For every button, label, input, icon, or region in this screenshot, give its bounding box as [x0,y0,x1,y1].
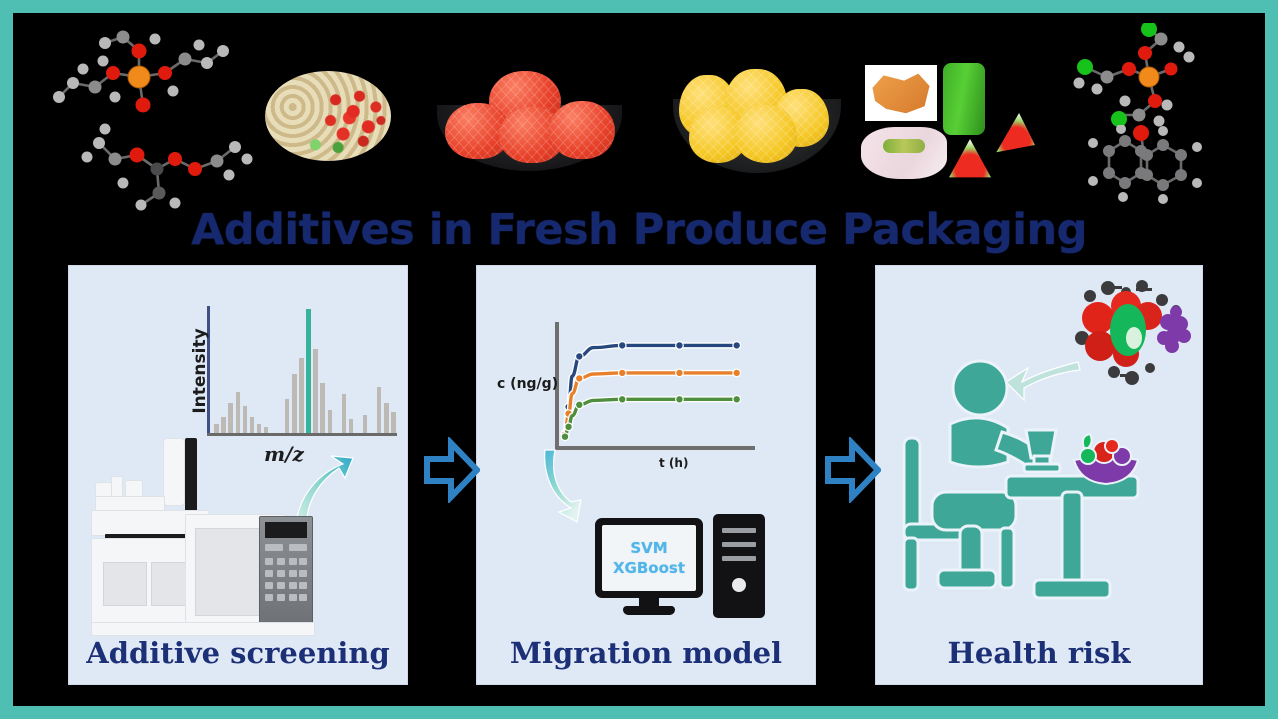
molecule-svg [71,121,256,211]
figure-title: Additives in Fresh Produce Packaging [13,205,1265,255]
panel-slot-a [103,562,147,606]
molecule-svg [1063,125,1223,211]
spectrum-bar [342,394,346,433]
person-eating-at-table-icon [898,352,1182,652]
data-point [576,353,584,361]
data-point [618,369,626,377]
lc-ms-instrument-icon [91,438,353,638]
migration-y-axis-label: c (ng/g) [497,376,558,392]
computer-tower [713,514,765,618]
apples-in-foam-net-tray-photo [437,63,622,171]
monitor-screen: SVM XGBoost [602,525,696,591]
graphical-abstract: Additives in Fresh Produce Packaging Int… [0,0,1278,719]
spectrum-bar [313,349,317,433]
spectrum-bar [228,403,232,433]
curve-halo [565,399,737,436]
data-point [676,396,684,404]
spectrum-bar [328,410,332,433]
person-svg [898,352,1182,652]
pears-in-foam-net-tray-photo [673,63,841,173]
green-container [943,63,985,135]
wrapped-salad [861,127,947,179]
power-button[interactable] [732,578,746,592]
spectrum-bar [285,399,289,433]
molecule-svg [43,27,243,127]
spectrum-bar [243,406,247,433]
monitor-stand-base [623,606,675,615]
arrow-svg [424,437,480,503]
chlorinated-organophosphate-molecule [1063,23,1243,131]
arrow-svg [537,446,593,526]
monitor: SVM XGBoost [595,518,703,598]
instrument-base [91,622,315,636]
migration-curve-additive-1 [565,345,737,433]
curve-halo [565,345,737,433]
spectrum-bar [349,419,353,433]
data-point [618,396,626,404]
tower-vent [722,528,756,533]
wrapped-watermelon-slice [949,139,991,179]
figure-canvas: Additives in Fresh Produce Packaging Int… [13,13,1265,706]
wrapped-snack [865,65,937,121]
data-point [576,401,584,409]
autosampler-rail [185,438,197,512]
spectrum-y-axis-label: Intensity [190,326,210,416]
migration-x-axis-label: t (h) [659,456,688,470]
data-point [565,423,573,431]
migration-curves-chart [555,322,755,450]
desktop-computer-icon[interactable]: SVM XGBoost [595,518,771,622]
spectrum-bar [250,417,254,433]
spectrum-bar [384,403,388,433]
strawberries-in-packaging-tray-photo [265,71,391,161]
fruit-bowl [1074,434,1138,484]
pear [735,105,797,163]
data-point [733,342,741,350]
spectrum-bar [257,424,261,433]
curved-arrow-down-icon [537,446,593,526]
data-point [676,369,684,377]
spectrum-bar [214,424,218,433]
molecule-svg [1063,23,1243,131]
spectrum-bar [299,358,303,433]
organophosphate-molecule [43,27,243,127]
data-point [733,396,741,404]
top-image-strip [13,13,1265,213]
spectrum-bar [221,417,225,433]
right-arrow-icon-2 [825,437,881,503]
ml-model-svm: SVM [630,539,667,557]
data-point [733,369,741,377]
data-point [618,342,626,350]
packaged-fresh-cut-produce-photo [861,61,1039,189]
ml-model-xgboost: XGBoost [613,559,685,577]
apple [549,101,615,159]
panel-label-health-risk: Health risk [876,636,1202,670]
arrow-svg [825,437,881,503]
data-point [561,433,569,441]
panel-health-risk[interactable]: Health risk [875,265,1203,685]
panel-label-migration-model: Migration model [477,636,815,670]
right-arrow-icon-1 [424,437,480,503]
migration-curves-svg [555,322,755,450]
spectrum-bar [236,392,240,433]
spectrum-bar [306,309,311,433]
panel-migration-model[interactable]: c (ng/g) t (h) SVM [476,265,816,685]
control-panel-display [265,522,307,538]
spectrum-bars [213,306,397,436]
spectrum-bar [363,415,367,433]
wrapped-watermelon-slice [993,113,1035,153]
tower-vent [722,556,756,561]
spectrum-bar [264,427,268,433]
spectrum-bar [391,412,395,433]
data-point [576,375,584,383]
benzophenone-molecule [1063,125,1223,211]
autosampler-arm [163,438,185,506]
spectrum-bar [292,374,296,433]
citrate-ester-molecule [71,121,256,211]
migration-curve-additive-3 [565,399,737,436]
panel-additive-screening[interactable]: Intensity m/z [68,265,408,685]
spectrum-bar [377,387,381,433]
tower-vent [722,542,756,547]
panel-label-additive-screening: Additive screening [69,636,407,670]
spectrum-bar [320,383,324,433]
mass-spectrum-chart [207,306,397,436]
data-point [676,342,684,350]
control-panel-keys[interactable] [265,544,307,618]
